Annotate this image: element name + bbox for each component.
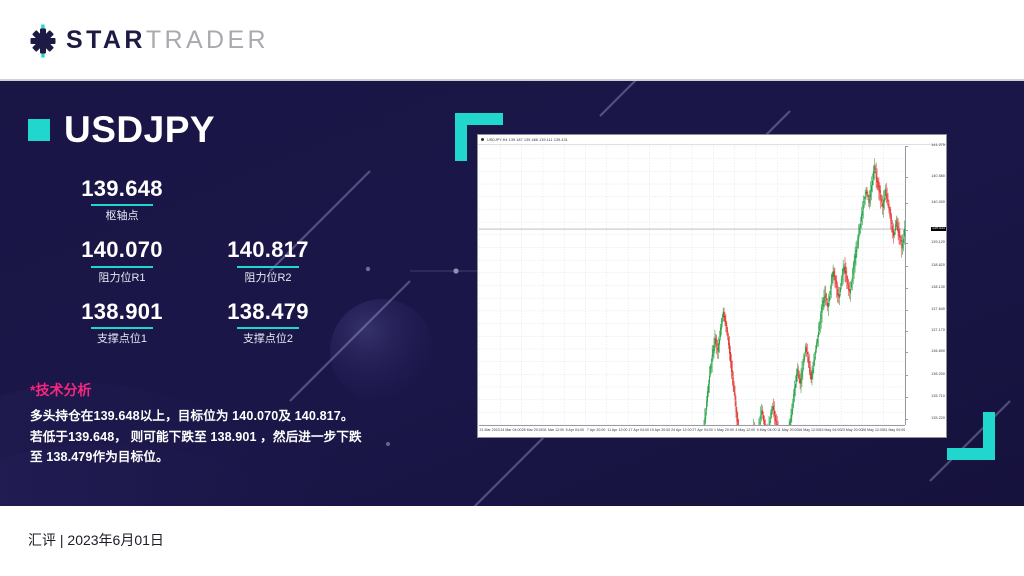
brand-trader-text: TRADER: [146, 26, 269, 54]
page-title: USDJPY: [64, 111, 215, 148]
chart-y-tick-mark: [906, 375, 908, 376]
analysis-heading: *技术分析: [30, 382, 428, 399]
level-r2: 140.817 阻力位R2: [206, 237, 330, 284]
analysis-line-2: 若低于139.648， 则可能下跌至 138.901 ，然后进一步下跌: [30, 427, 428, 447]
corner-bracket-bottom-right-icon: [947, 412, 995, 460]
chart-y-tick: 139.120: [931, 241, 945, 245]
chart-y-tick-mark: [906, 266, 908, 267]
chart-y-tick-mark: [906, 288, 908, 289]
page-header: STARTRADER: [0, 0, 1024, 81]
analysis-body: 多头持仓在139.648以上，目标位为 140.070及 140.817。 若低…: [30, 406, 428, 467]
chart-x-tick: 21 Mar 2023: [480, 429, 500, 433]
chart-title-bar: USDJPY,H4 139.187 139.466 139.111 139.43…: [478, 135, 946, 145]
chart-x-tick: 7 Apr 20:00: [587, 429, 605, 433]
chart-x-tick: 28 Mar 20:00: [522, 429, 543, 433]
chart-y-tick-mark: [906, 352, 908, 353]
chart-y-tick: 140.580: [931, 175, 945, 179]
level-r2-value: 140.817: [206, 237, 330, 262]
chart-x-tick: 1 May 20:00: [714, 429, 734, 433]
chart-y-tick-mark: [906, 203, 908, 204]
chart-y-tick: 135.220: [931, 417, 945, 421]
chart-x-tick: 19 Apr 20:00: [650, 429, 670, 433]
page-footer: 汇评 | 2023年6月01日: [0, 506, 1024, 576]
chart-plot-area: [479, 146, 905, 425]
level-pivot-value: 139.648: [60, 176, 184, 201]
level-s1-value: 138.901: [60, 299, 184, 324]
pivot-levels: 139.648 枢轴点 140.070 阻力位R1 140.817 阻力位R2: [50, 176, 428, 360]
resistance-row: 140.070 阻力位R1 140.817 阻力位R2: [60, 237, 428, 298]
level-underline: [237, 266, 299, 268]
technical-analysis: *技术分析 多头持仓在139.648以上，目标位为 140.070及 140.8…: [30, 382, 428, 467]
chart-y-tick: 137.170: [931, 329, 945, 333]
chart-x-tick: 4 May 12:00: [735, 429, 755, 433]
analysis-line-1: 多头持仓在139.648以上，目标位为 140.070及 140.817。: [30, 406, 428, 426]
level-r1-value: 140.070: [60, 237, 184, 262]
chart-y-tick: 136.200: [931, 373, 945, 377]
level-pivot-label: 枢轴点: [60, 210, 184, 223]
teal-square-bullet-icon: [28, 119, 50, 141]
analysis-heading-text: 技术分析: [35, 382, 91, 398]
analysis-line-3: 至 138.479作为目标位。: [30, 447, 428, 467]
chart-y-tick-mark: [906, 177, 908, 178]
candlestick-series: [479, 146, 905, 425]
chart-x-tick: 11 Apr 12:00: [607, 429, 627, 433]
chart-y-tick-mark: [906, 331, 908, 332]
brand-logo[interactable]: STARTRADER: [26, 24, 269, 58]
chart-x-tick: 16 May 12:00: [798, 429, 820, 433]
instrument-heading: USDJPY: [28, 111, 428, 148]
level-s2: 138.479 支撑点位2: [206, 299, 330, 346]
chart-y-tick: 136.690: [931, 350, 945, 354]
chart-y-tick-mark: [906, 230, 908, 231]
chart-x-axis[interactable]: 21 Mar 202324 Mar 04:0028 Mar 20:0031 Ma…: [479, 425, 905, 437]
chart-x-tick: 17 Apr 04:00: [629, 429, 649, 433]
brand-star-text: STAR: [66, 26, 146, 54]
level-underline: [237, 327, 299, 329]
chart-x-tick: 19 May 04:00: [820, 429, 842, 433]
chart-x-tick: 27 Apr 04:00: [692, 429, 712, 433]
chart-window[interactable]: USDJPY,H4 139.187 139.466 139.111 139.43…: [477, 134, 947, 438]
chart-y-tick-mark: [906, 419, 908, 420]
chart-marker-icon: [481, 138, 484, 141]
instrument-panel: USDJPY 139.648 枢轴点 140.070 阻力位R1 140.817: [28, 111, 428, 467]
level-r2-label: 阻力位R2: [206, 272, 330, 285]
level-pivot: 139.648 枢轴点: [60, 176, 184, 223]
chart-x-tick: 31 Mar 12:00: [543, 429, 564, 433]
chart-y-tick-mark: [906, 146, 908, 147]
pivot-row: 139.648 枢轴点: [50, 176, 428, 237]
level-underline: [91, 204, 153, 206]
chart-y-tick: 138.620: [931, 264, 945, 268]
level-underline: [91, 327, 153, 329]
chart-x-tick: 5 Apr 04:00: [566, 429, 584, 433]
chart-y-tick: 138.130: [931, 286, 945, 290]
chart-current-price-marker: 139.431: [931, 227, 946, 232]
brand-wordmark: STARTRADER: [66, 28, 269, 53]
level-s1-label: 支撑点位1: [60, 333, 184, 346]
chart-y-tick-mark: [906, 243, 908, 244]
chart-y-tick: 135.710: [931, 395, 945, 399]
chart-y-axis[interactable]: 141.275140.580140.000139.410139.120138.6…: [905, 146, 946, 425]
chart-title: USDJPY,H4 139.187 139.466 139.111 139.43…: [487, 138, 568, 142]
chart-x-tick: 9 May 04:00: [757, 429, 777, 433]
level-underline: [91, 266, 153, 268]
level-r1-label: 阻力位R1: [60, 272, 184, 285]
footer-date: 汇评 | 2023年6月01日: [28, 533, 164, 547]
level-s2-value: 138.479: [206, 299, 330, 324]
chart-y-tick: 140.000: [931, 201, 945, 205]
chart-x-tick: 24 Apr 12:00: [671, 429, 691, 433]
chart-x-tick: 23 May 20:00: [841, 429, 863, 433]
level-r1: 140.070 阻力位R1: [60, 237, 184, 284]
chart-x-tick: 26 May 12:00: [862, 429, 884, 433]
level-s2-label: 支撑点位2: [206, 333, 330, 346]
chart-x-tick: 11 May 20:00: [777, 429, 799, 433]
chart-y-tick: 141.275: [931, 144, 945, 148]
level-s1: 138.901 支撑点位1: [60, 299, 184, 346]
chart-body: 141.275140.580140.000139.410139.120138.6…: [478, 146, 946, 437]
support-row: 138.901 支撑点位1 138.479 支撑点位2: [60, 299, 428, 360]
star-asterisk-icon: [26, 24, 60, 58]
chart-x-tick: 24 Mar 04:00: [500, 429, 521, 433]
chart-x-tick: 31 May 00:00: [883, 429, 905, 433]
chart-y-tick-mark: [906, 310, 908, 311]
chart-y-tick: 137.640: [931, 308, 945, 312]
chart-y-tick-mark: [906, 397, 908, 398]
